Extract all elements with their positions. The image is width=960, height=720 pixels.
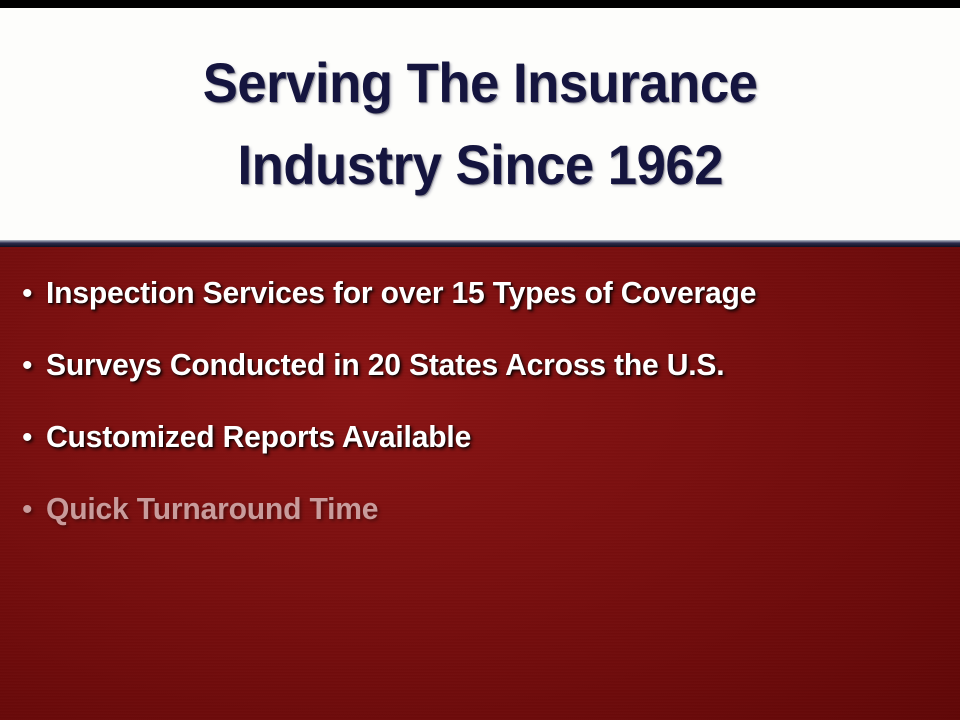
- header-divider: [0, 240, 960, 247]
- video-slide: Serving The Insurance Industry Since 196…: [0, 0, 960, 720]
- page-title-line-2: Industry Since 1962: [237, 137, 723, 193]
- list-item-label: Inspection Services for over 15 Types of…: [46, 277, 756, 308]
- list-item-label: Quick Turnaround Time: [46, 493, 378, 524]
- bullet-list: • Inspection Services for over 15 Types …: [22, 277, 942, 565]
- list-item: • Inspection Services for over 15 Types …: [22, 277, 942, 349]
- bullet-point-icon: •: [22, 423, 46, 453]
- header-panel: Serving The Insurance Industry Since 196…: [0, 8, 960, 240]
- bullet-point-icon: •: [22, 351, 46, 381]
- bullet-point-icon: •: [22, 495, 46, 525]
- list-item: • Quick Turnaround Time: [22, 493, 942, 565]
- letterbox-bar-top: [0, 0, 960, 8]
- list-item: • Surveys Conducted in 20 States Across …: [22, 349, 942, 421]
- list-item-label: Customized Reports Available: [46, 421, 471, 452]
- body-panel: • Inspection Services for over 15 Types …: [0, 247, 960, 720]
- list-item-label: Surveys Conducted in 20 States Across th…: [46, 349, 724, 380]
- page-title-line-1: Serving The Insurance: [203, 55, 758, 111]
- bullet-point-icon: •: [22, 279, 46, 309]
- list-item: • Customized Reports Available: [22, 421, 942, 493]
